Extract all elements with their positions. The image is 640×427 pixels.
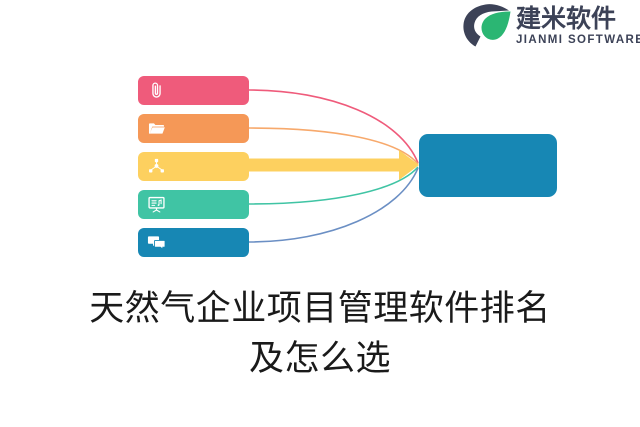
connector-arrow-network	[249, 150, 419, 180]
page-title-line-1: 天然气企业项目管理软件排名	[0, 284, 640, 334]
connector-line-paperclip	[249, 90, 418, 163]
flow-item-network[interactable]	[138, 152, 249, 181]
connector-line-chat	[249, 168, 418, 242]
presentation-board-icon	[147, 195, 166, 214]
flow-item-chat[interactable]	[138, 228, 249, 257]
page-title-line-2: 及怎么选	[0, 334, 640, 384]
folder-icon	[147, 119, 166, 138]
connector-line-presentation	[249, 167, 418, 204]
chat-bubbles-icon	[147, 233, 166, 252]
target-node[interactable]	[419, 134, 557, 197]
page-canvas: 建米软件 JIANMI SOFTWARE	[0, 0, 640, 427]
flow-item-presentation[interactable]	[138, 190, 249, 219]
network-hub-icon	[147, 157, 166, 176]
flow-item-folder[interactable]	[138, 114, 249, 143]
flow-item-paperclip[interactable]	[138, 76, 249, 105]
page-title: 天然气企业项目管理软件排名 及怎么选	[0, 284, 640, 384]
paperclip-icon	[147, 81, 166, 100]
convergence-diagram	[0, 0, 640, 270]
